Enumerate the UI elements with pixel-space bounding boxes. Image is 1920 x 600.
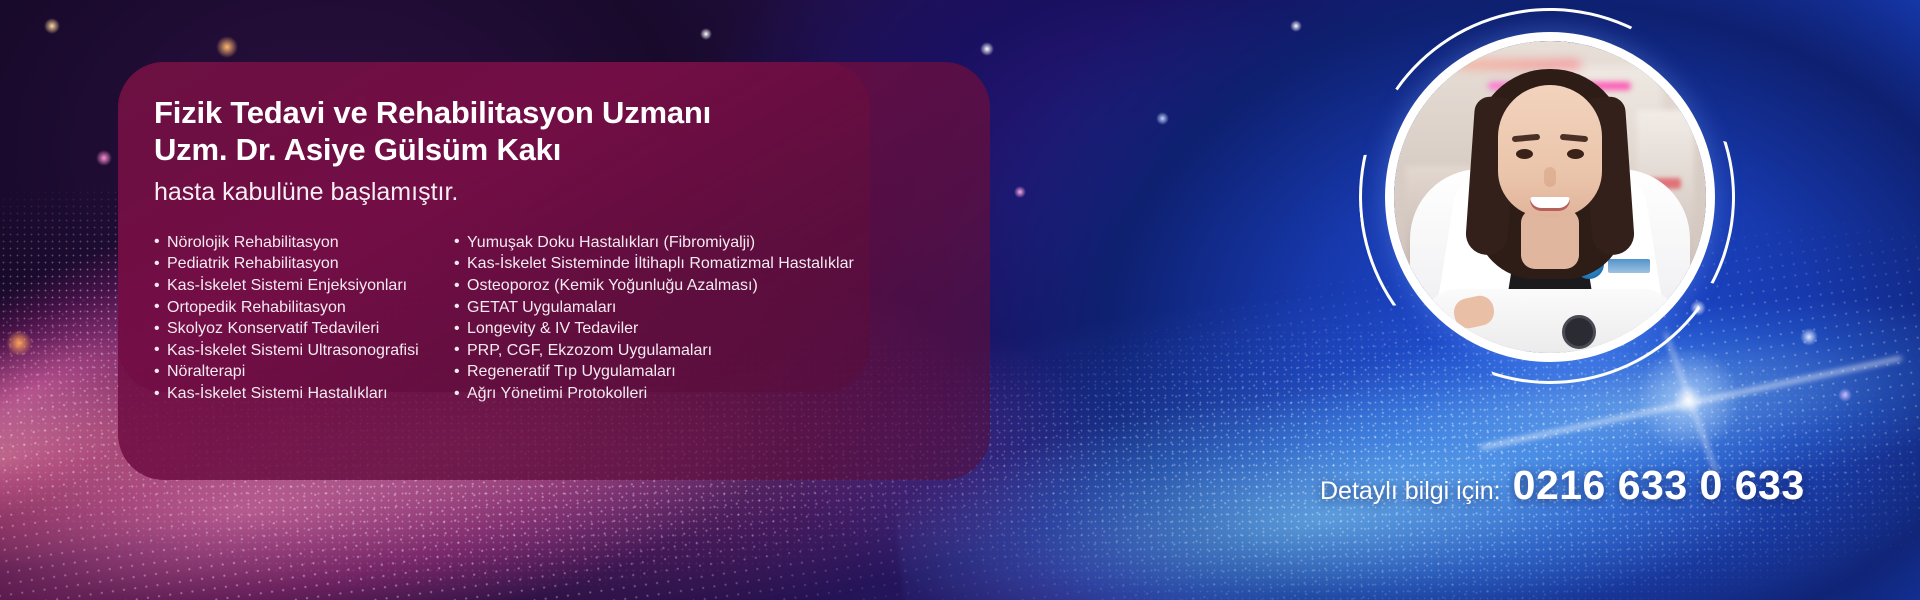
list-item: Ağrı Yönetimi Protokolleri <box>454 383 954 405</box>
portrait-mouth <box>1530 197 1570 211</box>
contact-info[interactable]: Detaylı bilgi için: 0216 633 0 633 <box>1320 462 1805 509</box>
light-burst-rays <box>1688 400 1694 406</box>
list-item: Longevity & IV Tedaviler <box>454 318 954 340</box>
phone-number[interactable]: 0216 633 0 633 <box>1513 462 1805 509</box>
list-item: Kas-İskelet Sisteminde İltihaplı Romatiz… <box>454 253 954 275</box>
page-title-line-1: Fizik Tedavi ve Rehabilitasyon Uzmanı <box>154 94 990 131</box>
list-item: Skolyoz Konservatif Tedavileri <box>154 318 454 340</box>
portrait-wristwatch <box>1562 315 1596 349</box>
list-item: Kas-İskelet Sistemi Enjeksiyonları <box>154 275 454 297</box>
portrait-face <box>1498 85 1602 217</box>
doctor-portrait-block <box>1385 32 1715 362</box>
portrait-coat-logo-text <box>1608 259 1650 273</box>
list-item: Ortopedik Rehabilitasyon <box>154 297 454 319</box>
services-lists: Nörolojik Rehabilitasyon Pediatrik Rehab… <box>154 232 990 405</box>
services-list-left: Nörolojik Rehabilitasyon Pediatrik Rehab… <box>154 232 454 405</box>
list-item: Kas-İskelet Sistemi Hastalıkları <box>154 383 454 405</box>
portrait-neck <box>1521 209 1579 269</box>
portrait-brow-right <box>1560 134 1588 142</box>
list-item: Pediatrik Rehabilitasyon <box>154 253 454 275</box>
portrait-neon-warm <box>1456 60 1581 69</box>
list-item: GETAT Uygulamaları <box>454 297 954 319</box>
list-item: Nörolojik Rehabilitasyon <box>154 232 454 254</box>
list-item: Osteoporoz (Kemik Yoğunluğu Azalması) <box>454 275 954 297</box>
portrait-eye-left <box>1516 149 1533 159</box>
services-list-right: Yumuşak Doku Hastalıkları (Fibromiyalji)… <box>454 232 954 405</box>
list-item: PRP, CGF, Ekzozom Uygulamaları <box>454 340 954 362</box>
list-item: Nöralterapi <box>154 361 454 383</box>
portrait-eye-right <box>1567 149 1584 159</box>
avatar <box>1394 41 1706 353</box>
portrait-nose <box>1544 167 1556 187</box>
contact-label: Detaylı bilgi için: <box>1320 477 1501 506</box>
promo-banner: Fizik Tedavi ve Rehabilitasyon Uzmanı Uz… <box>0 0 1920 600</box>
list-item: Kas-İskelet Sistemi Ultrasonografisi <box>154 340 454 362</box>
portrait-white-ring <box>1385 32 1715 362</box>
page-title-line-2: Uzm. Dr. Asiye Gülsüm Kakı <box>154 131 990 168</box>
list-item: Regeneratif Tıp Uygulamaları <box>454 361 954 383</box>
page-subtitle: hasta kabulüne başlamıştır. <box>154 174 990 212</box>
portrait-brow-left <box>1512 134 1540 142</box>
list-item: Yumuşak Doku Hastalıkları (Fibromiyalji) <box>454 232 954 254</box>
info-card-content: Fizik Tedavi ve Rehabilitasyon Uzmanı Uz… <box>118 62 990 480</box>
